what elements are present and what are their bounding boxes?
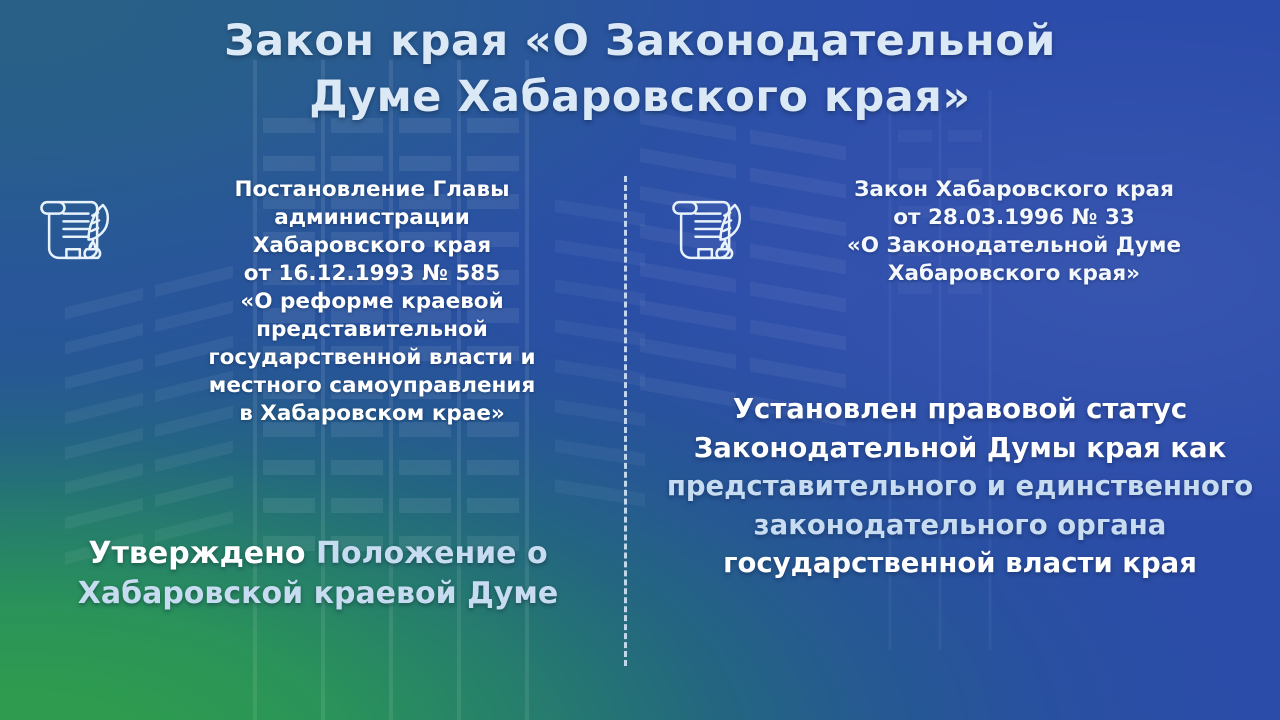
slide-title: Закон края «О Законодательной Думе Хабар… [90, 14, 1190, 126]
right-doc-line-4: Хабаровского края» [768, 260, 1260, 288]
right-outcome-part-2: представительного и единственного законо… [667, 470, 1253, 541]
right-doc-line-3: «О Законодательной Думе [768, 232, 1260, 260]
left-outcome-text: Утверждено Положение о Хабаровской краев… [28, 534, 608, 614]
slide-content: Закон края «О Законодательной Думе Хабар… [0, 0, 1280, 720]
right-outcome-part-1: Установлен правовой статус Законодательн… [694, 393, 1227, 464]
right-outcome-part-3: государственной власти края [723, 547, 1197, 579]
left-outcome-prefix: Утверждено [88, 536, 305, 571]
left-doc-line-2: администрации [136, 204, 608, 232]
right-document-text: Закон Хабаровского края от 28.03.1996 № … [768, 176, 1260, 288]
left-doc-line-5: «О реформе краевой [136, 288, 608, 316]
left-doc-line-6: представительной [136, 316, 608, 344]
left-doc-line-4: от 16.12.1993 № 585 [136, 260, 608, 288]
slide-title-line-1: Закон края «О Законодательной [90, 14, 1190, 70]
presentation-slide: Закон края «О Законодательной Думе Хабар… [0, 0, 1280, 720]
left-document-text: Постановление Главы администрации Хабаро… [136, 176, 608, 427]
left-doc-line-1: Постановление Главы [136, 176, 608, 204]
left-document-row: Постановление Главы администрации Хабаро… [28, 176, 608, 427]
right-doc-line-1: Закон Хабаровского края [768, 176, 1260, 204]
scroll-quill-icon [28, 182, 124, 278]
left-doc-line-7: государственной власти и [136, 344, 608, 372]
scroll-quill-icon [660, 182, 756, 278]
right-outcome-text: Установлен правовой статус Законодательн… [660, 390, 1260, 583]
right-column: Закон Хабаровского края от 28.03.1996 № … [660, 176, 1260, 288]
left-column: Постановление Главы администрации Хабаро… [28, 176, 608, 427]
right-document-row: Закон Хабаровского края от 28.03.1996 № … [660, 176, 1260, 288]
right-doc-line-2: от 28.03.1996 № 33 [768, 204, 1260, 232]
left-doc-line-9: в Хабаровском крае» [136, 400, 608, 428]
slide-title-line-2: Думе Хабаровского края» [90, 70, 1190, 126]
left-doc-line-8: местного самоуправления [136, 372, 608, 400]
left-doc-line-3: Хабаровского края [136, 232, 608, 260]
column-divider [624, 176, 627, 666]
